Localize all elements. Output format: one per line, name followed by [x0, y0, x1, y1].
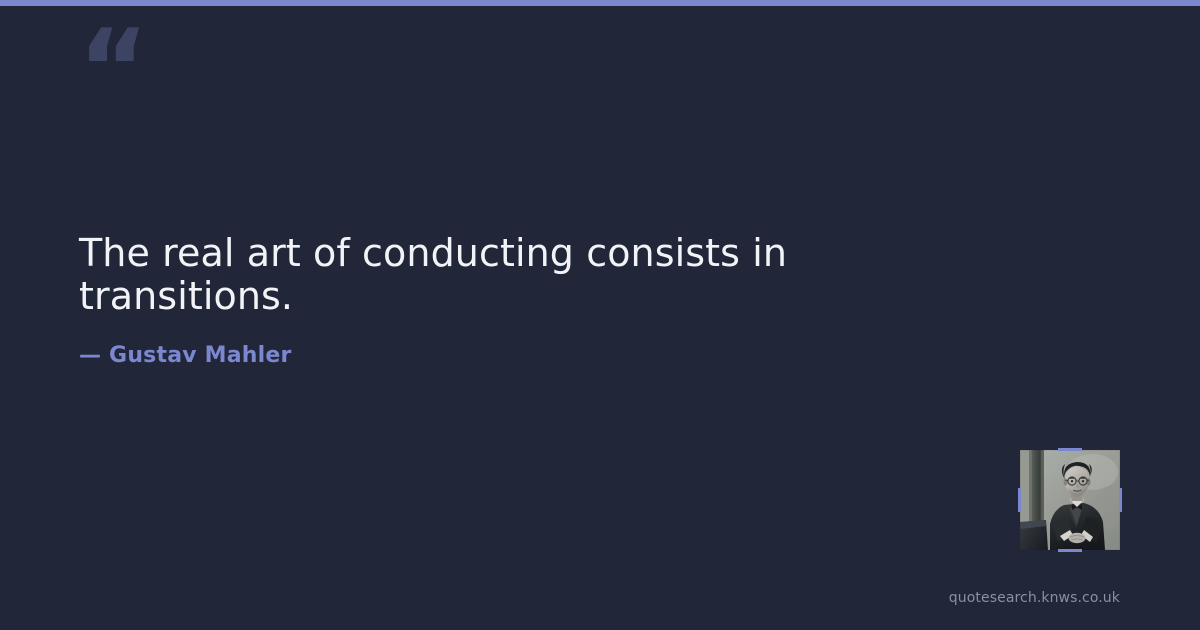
- quote-text: The real art of conducting consists in t…: [79, 232, 839, 317]
- portrait-accent-bottom: [1058, 549, 1082, 552]
- source-url: quotesearch.knws.co.uk: [949, 590, 1120, 606]
- portrait-accent-right: [1119, 488, 1122, 512]
- quote-card: “ The real art of conducting consists in…: [0, 0, 1200, 630]
- quote-author: — Gustav Mahler: [79, 317, 839, 369]
- portrait-accent-left: [1018, 488, 1021, 512]
- opening-quote-icon: “: [78, 16, 147, 124]
- portrait-accent-top: [1058, 448, 1082, 451]
- top-accent-bar: [0, 0, 1200, 6]
- quote-block: The real art of conducting consists in t…: [79, 232, 839, 369]
- author-portrait-image: [1020, 450, 1120, 550]
- author-portrait: [1020, 450, 1120, 550]
